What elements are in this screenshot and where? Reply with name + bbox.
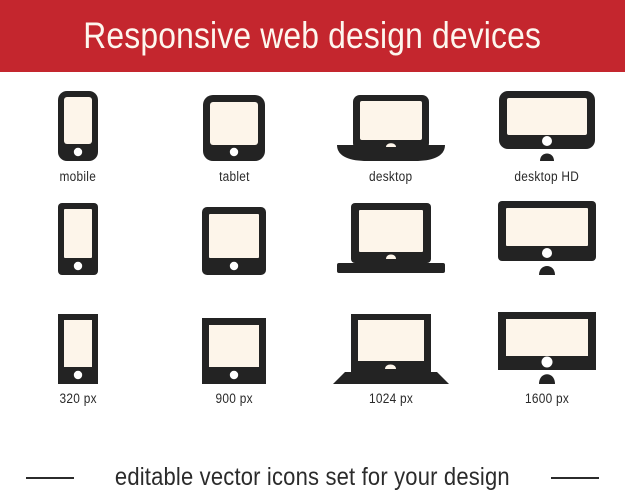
monitor-icon[interactable] [498,201,596,275]
icon-row-sharp: 320 px 900 px 1024 px [0,296,625,406]
icon-cell-mobile[interactable] [0,194,156,296]
icon-cell-desktop[interactable]: 1024 px [313,304,469,406]
mobile-phone-icon[interactable] [58,91,98,161]
laptop-icon[interactable] [335,95,447,161]
header-banner: Responsive web design devices [0,0,625,72]
icon-cell-tablet[interactable] [156,194,312,296]
mobile-phone-icon[interactable] [58,203,98,275]
icon-label: 320 px [59,391,96,406]
icon-row-rounded: mobile tablet desktop [0,72,625,184]
icon-label: desktop [369,169,412,184]
icon-cell-desktop-hd[interactable] [469,194,625,296]
icon-label: 1024 px [369,391,413,406]
footer-caption: editable vector icons set for your desig… [115,463,510,492]
icon-label: 900 px [216,391,253,406]
icon-cell-mobile[interactable]: 320 px [0,304,156,406]
footer-rule-left [26,477,74,479]
icon-cell-desktop-hd[interactable]: 1600 px [469,304,625,406]
icon-label: tablet [219,169,250,184]
laptop-icon[interactable] [335,203,447,275]
icon-label: desktop HD [515,169,580,184]
icon-cell-desktop[interactable]: desktop [313,102,469,184]
icon-cell-tablet[interactable]: 900 px [156,304,312,406]
icon-cell-tablet[interactable]: tablet [156,102,312,184]
icon-row-soft [0,184,625,296]
icon-cell-desktop-hd[interactable]: desktop HD [469,102,625,184]
icon-cell-mobile[interactable]: mobile [0,102,156,184]
icon-label: 1600 px [525,391,569,406]
tablet-icon[interactable] [202,318,266,384]
icon-cell-desktop[interactable] [313,194,469,296]
page-title: Responsive web design devices [84,15,542,57]
icon-grid: mobile tablet desktop [0,72,625,406]
footer-rule-right [551,477,599,479]
laptop-icon[interactable] [333,314,449,384]
mobile-phone-icon[interactable] [58,314,98,384]
monitor-icon[interactable] [499,91,595,161]
icon-label: mobile [60,169,97,184]
monitor-icon[interactable] [498,312,596,384]
tablet-icon[interactable] [203,95,265,161]
footer: editable vector icons set for your desig… [0,463,625,492]
tablet-icon[interactable] [202,207,266,275]
